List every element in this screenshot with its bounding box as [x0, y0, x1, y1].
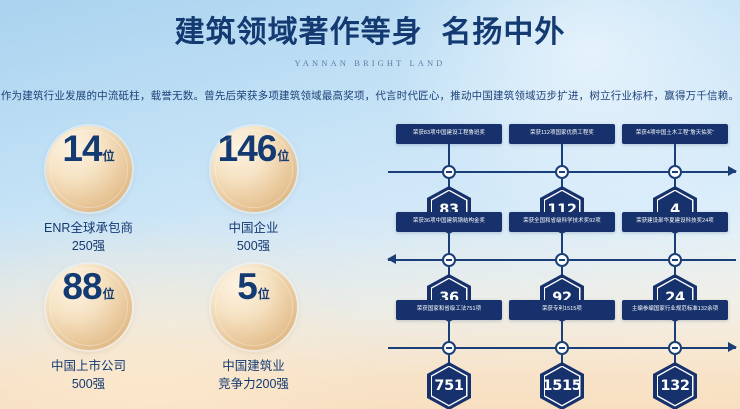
- achievement-badge: 88 位 中国上市公司 500强: [6, 264, 171, 402]
- badge-value: 146: [218, 130, 277, 167]
- node-ring-icon: [668, 165, 682, 179]
- arrow-left-icon: [387, 254, 396, 264]
- timeline-node[interactable]: 荣获全国和省级科学技术奖92项 92: [509, 212, 615, 232]
- award-chip: 荣获国家和省级工法751项: [396, 300, 502, 320]
- achievement-badge: 146 位 中国企业 500强: [171, 126, 336, 264]
- awards-timeline: 荣获83项中国建设工程鲁班奖 83 荣获112项国家优质工程奖 112: [388, 124, 736, 402]
- hex-badge: 1515: [540, 362, 584, 409]
- timeline-row: 荣获83项中国建设工程鲁班奖 83 荣获112项国家优质工程奖 112: [388, 124, 736, 212]
- node-ring-icon: [668, 253, 682, 267]
- badge-label-line2: 250强: [44, 237, 133, 255]
- badge-value: 5: [237, 268, 257, 305]
- timeline-node[interactable]: 荣获36项中国建筑钢结构金奖 36: [396, 212, 502, 232]
- badge-unit: 位: [258, 285, 270, 302]
- badge-label: 中国企业 500强: [228, 219, 278, 255]
- timeline-node[interactable]: 荣获83项中国建设工程鲁班奖 83: [396, 124, 502, 144]
- hex-badge: 132: [653, 362, 697, 409]
- badge-circle: 146 位: [211, 126, 297, 212]
- badge-label-line2: 500强: [51, 375, 126, 393]
- timeline-node[interactable]: 荣获4项中国土木工程“詹天佑奖” 4: [622, 124, 728, 144]
- badge-label-line2: 500强: [228, 237, 278, 255]
- timeline-node[interactable]: 荣获专利1515项 1515: [509, 300, 615, 320]
- node-ring-icon: [555, 165, 569, 179]
- award-chip: 荣获36项中国建筑钢结构金奖: [396, 212, 502, 232]
- brand-subtitle: YANNAN BRIGHT LAND: [0, 58, 740, 68]
- arrow-right-icon: [728, 342, 737, 352]
- badge-unit: 位: [277, 147, 289, 164]
- badge-label-line1: 中国上市公司: [51, 357, 126, 375]
- badge-label-line1: ENR全球承包商: [44, 219, 133, 237]
- badge-unit: 位: [103, 147, 115, 164]
- badge-circle: 5 位: [211, 264, 297, 350]
- achievement-badge: 14 位 ENR全球承包商 250强: [6, 126, 171, 264]
- timeline-node[interactable]: 荣获建设部华夏建设科技奖24项 24: [622, 212, 728, 232]
- page-description: 作为建筑行业发展的中流砥柱，载誉无数。曾先后荣获多项建筑领域最高奖项，代言时代匠…: [0, 88, 740, 103]
- node-ring-icon: [442, 253, 456, 267]
- badge-circle: 88 位: [46, 264, 132, 350]
- badge-value: 14: [62, 130, 101, 167]
- hex-value: 1515: [542, 378, 581, 394]
- award-chip: 荣获4项中国土木工程“詹天佑奖”: [622, 124, 728, 144]
- award-chip: 主编参编国家行业规范标准132余项: [622, 300, 728, 320]
- award-chip: 荣获建设部华夏建设科技奖24项: [622, 212, 728, 232]
- award-chip: 荣获全国和省级科学技术奖92项: [509, 212, 615, 232]
- badge-circle: 14 位: [46, 126, 132, 212]
- timeline-row: 荣获国家和省级工法751项 751 荣获专利1515项 1515: [388, 300, 736, 388]
- node-ring-icon: [442, 341, 456, 355]
- badge-value: 88: [62, 268, 101, 305]
- timeline-node[interactable]: 主编参编国家行业规范标准132余项 132: [622, 300, 728, 320]
- node-ring-icon: [555, 341, 569, 355]
- badge-label: 中国上市公司 500强: [51, 357, 126, 393]
- badge-label-line1: 中国建筑业: [218, 357, 289, 375]
- timeline-node[interactable]: 荣获112项国家优质工程奖 112: [509, 124, 615, 144]
- badge-label: ENR全球承包商 250强: [44, 219, 133, 255]
- badge-label-line2: 竞争力200强: [218, 375, 289, 393]
- node-ring-icon: [442, 165, 456, 179]
- award-chip: 荣获83项中国建设工程鲁班奖: [396, 124, 502, 144]
- badge-unit: 位: [103, 285, 115, 302]
- award-chip: 荣获112项国家优质工程奖: [509, 124, 615, 144]
- hex-badge: 751: [427, 362, 471, 409]
- badge-label-line1: 中国企业: [228, 219, 278, 237]
- timeline-node[interactable]: 荣获国家和省级工法751项 751: [396, 300, 502, 320]
- achievement-badge-grid: 14 位 ENR全球承包商 250强 146 位 中国企业 500强 88 位 …: [6, 126, 336, 401]
- hex-value: 132: [660, 378, 689, 394]
- node-ring-icon: [668, 341, 682, 355]
- achievement-badge: 5 位 中国建筑业 竞争力200强: [171, 264, 336, 402]
- page-header: 建筑领域著作等身 名扬中外 YANNAN BRIGHT LAND: [0, 14, 740, 68]
- page-title: 建筑领域著作等身 名扬中外: [0, 14, 740, 52]
- arrow-right-icon: [728, 166, 737, 176]
- award-chip: 荣获专利1515项: [509, 300, 615, 320]
- hex-value: 751: [434, 378, 463, 394]
- badge-label: 中国建筑业 竞争力200强: [218, 357, 289, 393]
- node-ring-icon: [555, 253, 569, 267]
- timeline-row: 荣获36项中国建筑钢结构金奖 36 荣获全国和省级科学技术奖92项 92: [388, 212, 736, 300]
